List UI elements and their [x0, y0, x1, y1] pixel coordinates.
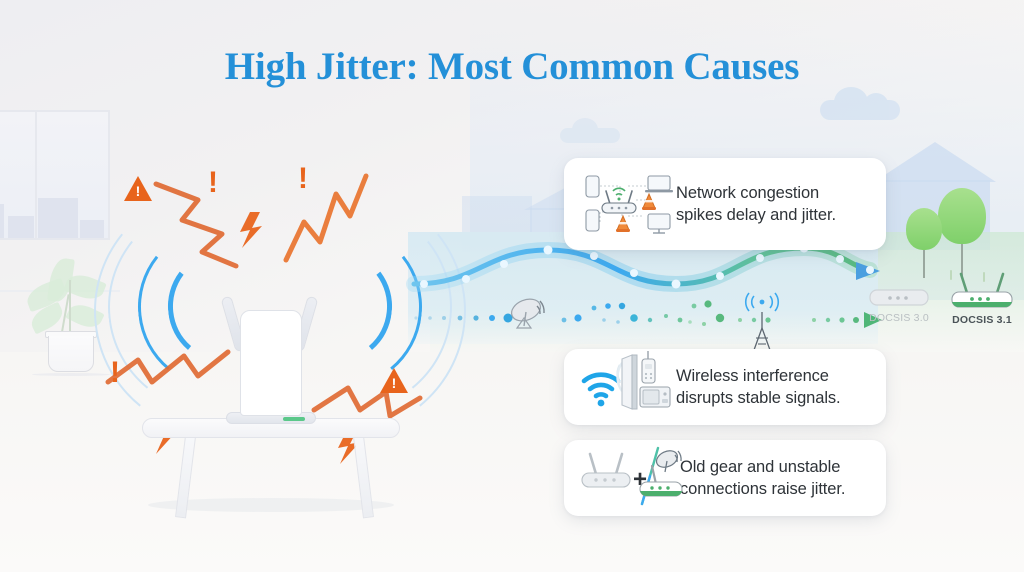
jitter-wave-flow — [408, 240, 878, 340]
cell-tower-icon — [746, 293, 779, 350]
modem-icon — [868, 282, 930, 308]
cause-card-old-gear[interactable]: + Old gear and unstable connections rais… — [564, 440, 886, 516]
warning-triangle-icon: ! — [124, 176, 152, 201]
docsis-comparison: DOCSIS 3.0 DOCSIS 3.1 — [860, 272, 1024, 338]
warning-mark: ! — [391, 376, 397, 390]
cause-card-text: Network congestion spikes delay and jitt… — [676, 182, 836, 227]
docsis-30-item: DOCSIS 3.0 — [860, 282, 938, 324]
infographic-canvas: High Jitter: Most Common Causes ! ! ! — [0, 0, 1024, 572]
dotted-signal-path — [414, 300, 882, 328]
old-gear-icon: + — [580, 446, 680, 510]
cause-card-network-congestion[interactable]: Network congestion spikes delay and jitt… — [564, 158, 886, 250]
traffic-cone-icon — [642, 194, 656, 210]
cause-card-text: Wireless interference disrupts stable si… — [676, 365, 841, 410]
traffic-cone-icon — [616, 216, 630, 232]
docsis-31-item: DOCSIS 3.1 — [940, 272, 1024, 326]
router-icon — [946, 272, 1018, 310]
device-body — [240, 310, 302, 416]
tree-icon — [923, 228, 925, 278]
roof-silhouette — [874, 142, 996, 182]
tree-icon — [938, 188, 986, 244]
exclamation-icon: ! — [110, 358, 120, 388]
cloud-icon — [820, 100, 900, 120]
satellite-dish-icon — [508, 295, 544, 328]
status-led — [283, 417, 305, 421]
warning-triangle-icon: ! — [380, 368, 408, 393]
warning-mark: ! — [135, 184, 141, 198]
exclamation-icon: ! — [298, 164, 308, 194]
house-silhouette — [880, 180, 990, 250]
docsis-31-label: DOCSIS 3.1 — [940, 314, 1024, 326]
cause-card-wireless-interference[interactable]: Wireless interference disrupts stable si… — [564, 349, 886, 425]
page-title: High Jitter: Most Common Causes — [0, 44, 1024, 89]
exclamation-icon: ! — [208, 168, 218, 198]
range-extender-device — [218, 290, 322, 430]
tree-icon — [906, 208, 942, 250]
range-extender-illustration: ! ! ! ! ! — [90, 160, 450, 540]
network-congestion-icon — [580, 172, 676, 236]
cause-card-text: Old gear and unstable connections raise … — [680, 456, 845, 501]
tree-icon — [961, 214, 963, 276]
cloud-icon — [560, 128, 620, 143]
docsis-30-label: DOCSIS 3.0 — [860, 312, 938, 324]
wireless-interference-icon — [580, 355, 676, 419]
